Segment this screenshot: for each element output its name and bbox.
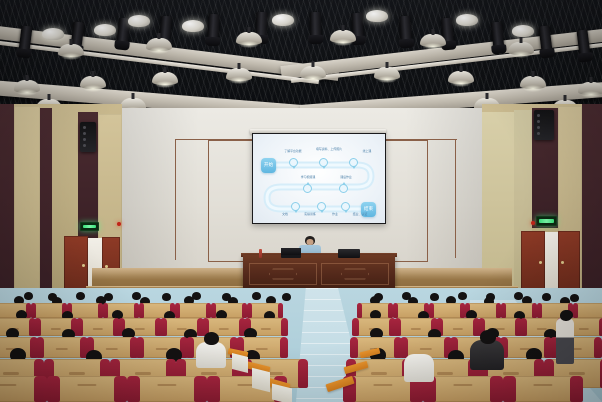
slide-label-bot-3: 作业 <box>325 213 345 216</box>
slide-label-bot-2: 实操训练 <box>297 213 323 216</box>
dome-light <box>330 30 356 43</box>
slide-pin <box>303 184 312 193</box>
wall-trim-left <box>175 140 176 260</box>
stage-light-reflector <box>94 24 116 36</box>
seat-row-foreground <box>316 376 602 402</box>
dome-light <box>14 80 40 93</box>
attendee-white-shirt <box>404 354 434 382</box>
presentation-slide: 开始 结束 了解平台功能 填写资料、上传照片 线上课 学习视频课 课后作业 文档… <box>253 134 385 223</box>
dome-light <box>58 44 84 57</box>
slide-pin <box>319 158 328 167</box>
seat-tablet-underside <box>252 368 270 392</box>
slide-start-badge-label: 开始 <box>264 163 273 168</box>
exit-sign-left <box>80 222 99 231</box>
dome-light <box>300 66 326 79</box>
doorway-right-open <box>545 232 558 290</box>
alarm-indicator-right <box>531 221 535 225</box>
stage-light <box>399 16 412 43</box>
dome-light <box>520 76 546 89</box>
wall-panel-pale <box>482 112 514 288</box>
dome-light <box>374 67 400 80</box>
slide-pin <box>339 184 348 193</box>
slide-label-top-2: 填写资料、上传照片 <box>307 148 351 151</box>
podium-panel <box>249 263 317 285</box>
slide-pin <box>349 158 358 167</box>
auditorium-photo: 开始 结束 了解平台功能 填写资料、上传照片 线上课 学习视频课 课后作业 文档… <box>0 0 602 402</box>
stage-light-reflector <box>456 14 478 26</box>
wall-speaker-right <box>534 110 554 140</box>
podium-monitor <box>338 249 360 258</box>
dome-light <box>508 42 534 55</box>
door-right-leaf <box>521 231 545 290</box>
stage-light-reflector <box>512 25 534 37</box>
attendee-head <box>480 330 496 344</box>
wall-panel-dark <box>0 104 14 292</box>
dome-light <box>578 82 602 95</box>
slide-pin <box>341 202 350 211</box>
projection-screen: 开始 结束 了解平台功能 填写资料、上传照片 线上课 学习视频课 课后作业 文档… <box>252 133 386 224</box>
wall-panel-dark <box>582 104 602 292</box>
attendee-dark-shirt <box>470 340 504 370</box>
wall-panel-wood <box>14 106 40 290</box>
slide-pin <box>317 202 326 211</box>
dome-light <box>448 71 474 84</box>
slide-label-bot-4: 结业、认证 <box>345 213 375 216</box>
attendee-head <box>560 310 572 321</box>
slide-label-bot-1: 文档 <box>275 213 295 216</box>
slide-pin <box>291 202 300 211</box>
wall-speaker-left <box>80 122 96 152</box>
dome-light <box>236 32 262 45</box>
slide-label-mid-1: 学习视频课 <box>291 176 325 179</box>
stage-light-reflector <box>272 14 294 26</box>
wall-trim-right <box>455 140 456 258</box>
attendee-white-shirt <box>196 342 226 368</box>
dome-light <box>80 76 106 89</box>
door-right-leaf-2 <box>558 231 580 290</box>
door-left-leaf <box>64 236 88 290</box>
podium-panel <box>321 263 389 285</box>
slide-start-badge: 开始 <box>261 158 276 173</box>
podium <box>243 255 395 289</box>
stage-light-reflector <box>366 10 388 22</box>
stage-light <box>310 12 321 38</box>
stage-light-reflector <box>128 15 150 27</box>
wall-panel-dark <box>40 108 52 288</box>
attendee-head <box>204 332 219 345</box>
stage-light-reflector <box>182 20 204 32</box>
slide-label-top-3: 线上课 <box>353 150 381 153</box>
exit-sign-right <box>536 216 557 226</box>
dome-light <box>152 72 178 85</box>
stage-light-reflector <box>42 28 64 40</box>
attendee-standing-right <box>556 318 574 364</box>
presenter-face <box>307 239 314 245</box>
dome-light <box>226 68 252 81</box>
podium-bottle <box>259 249 262 258</box>
dome-light <box>420 34 446 47</box>
slide-pin <box>289 158 298 167</box>
dome-light <box>146 38 172 51</box>
stage-light <box>207 14 219 41</box>
presenter-laptop <box>281 248 301 258</box>
alarm-indicator-left <box>117 222 121 226</box>
slide-label-mid-2: 课后作业 <box>329 176 363 179</box>
